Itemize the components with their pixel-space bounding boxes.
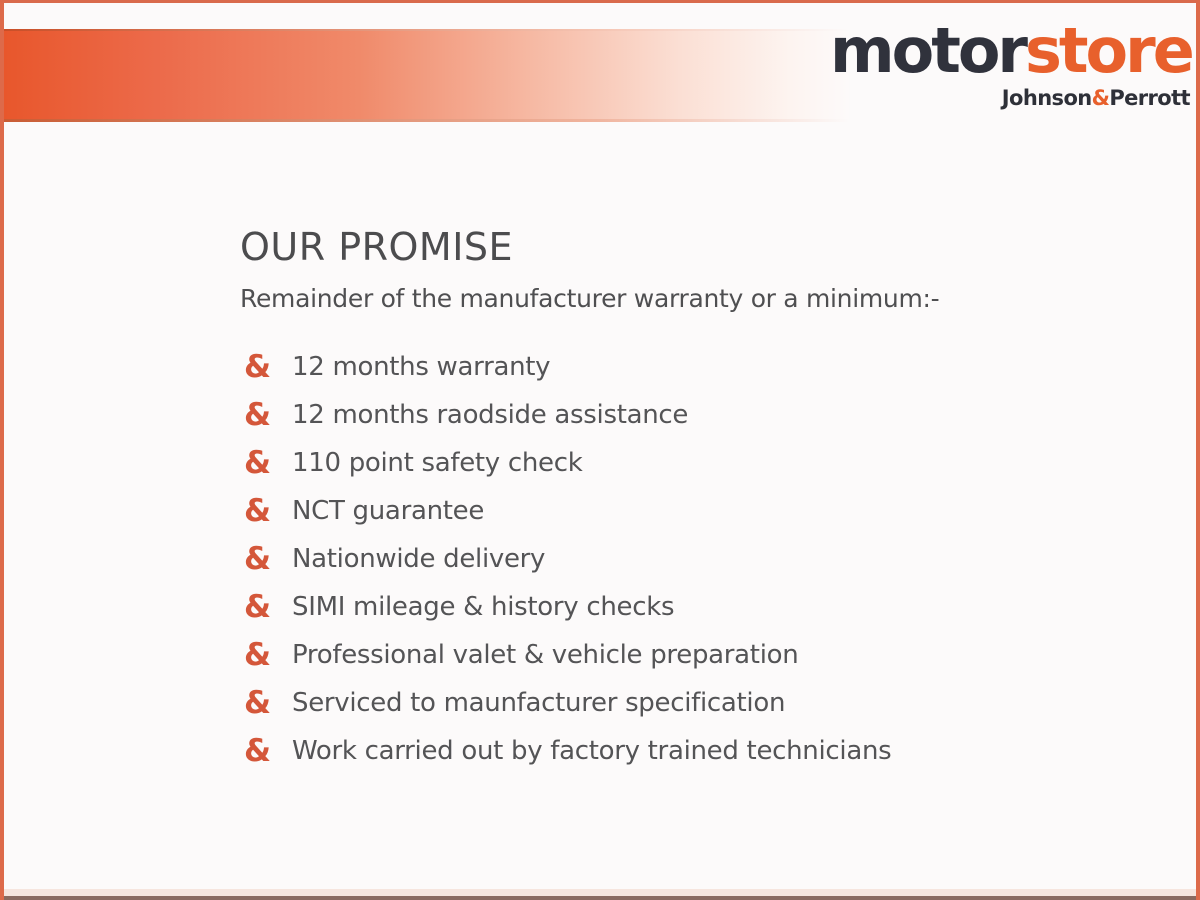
page-subtitle: Remainder of the manufacturer warranty o…: [240, 283, 1160, 315]
banner-bottom-edge: [4, 119, 849, 122]
logo-subbrand-johnson: Johnson: [1002, 86, 1092, 110]
promise-slide: motorstore Johnson&Perrott OUR PROMISE R…: [0, 0, 1200, 900]
ampersand-bullet-icon: &: [240, 487, 292, 535]
promise-content: OUR PROMISE Remainder of the manufacture…: [240, 225, 1160, 775]
ampersand-bullet-icon: &: [240, 535, 292, 583]
list-item: & Nationwide delivery: [240, 535, 1160, 583]
list-item-label: Work carried out by factory trained tech…: [292, 734, 891, 768]
logo-word-motor: motor: [830, 14, 1025, 87]
logo-ampersand-icon: &: [1092, 86, 1110, 110]
ampersand-bullet-icon: &: [240, 631, 292, 679]
ampersand-bullet-icon: &: [240, 391, 292, 439]
list-item-label: 110 point safety check: [292, 446, 582, 480]
list-item: & NCT guarantee: [240, 487, 1160, 535]
list-item: & Serviced to maunfacturer specification: [240, 679, 1160, 727]
logo-word-store: store: [1025, 14, 1192, 87]
slide-bottom-soft-border: [4, 889, 1196, 896]
ampersand-bullet-icon: &: [240, 679, 292, 727]
ampersand-bullet-icon: &: [240, 727, 292, 775]
ampersand-bullet-icon: &: [240, 439, 292, 487]
logo-wordmark: motorstore: [830, 18, 1190, 84]
ampersand-bullet-icon: &: [240, 583, 292, 631]
page-title: OUR PROMISE: [240, 225, 1160, 269]
list-item-label: SIMI mileage & history checks: [292, 590, 674, 624]
list-item: & Work carried out by factory trained te…: [240, 727, 1160, 775]
list-item-label: Nationwide delivery: [292, 542, 545, 576]
promise-list: & 12 months warranty & 12 months raodsid…: [240, 343, 1160, 775]
list-item: & SIMI mileage & history checks: [240, 583, 1160, 631]
motorstore-logo: motorstore Johnson&Perrott: [830, 18, 1190, 110]
list-item-label: Serviced to maunfacturer specification: [292, 686, 785, 720]
slide-top-border: [4, 0, 1196, 3]
logo-subbrand-perrott: Perrott: [1109, 86, 1190, 110]
list-item-label: 12 months raodside assistance: [292, 398, 688, 432]
list-item: & 110 point safety check: [240, 439, 1160, 487]
list-item-label: 12 months warranty: [292, 350, 550, 384]
ampersand-bullet-icon: &: [240, 343, 292, 391]
banner-gradient: [4, 31, 849, 119]
list-item: & 12 months raodside assistance: [240, 391, 1160, 439]
list-item: & Professional valet & vehicle preparati…: [240, 631, 1160, 679]
list-item-label: Professional valet & vehicle preparation: [292, 638, 798, 672]
logo-subbrand: Johnson&Perrott: [830, 86, 1190, 110]
slide-bottom-border: [4, 896, 1196, 900]
list-item-label: NCT guarantee: [292, 494, 484, 528]
list-item: & 12 months warranty: [240, 343, 1160, 391]
